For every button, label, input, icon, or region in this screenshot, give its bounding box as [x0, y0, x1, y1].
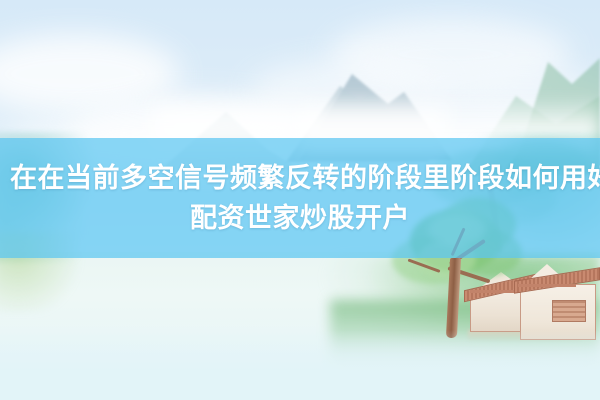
- house-right-roof-edge: [518, 284, 576, 287]
- house-window: [552, 300, 586, 322]
- headline-line-1: 在在当前多空信号频繁反转的阶段里阶段如何用好: [10, 158, 590, 198]
- ground-fade: [0, 330, 600, 400]
- landscape-banner: 在在当前多空信号频繁反转的阶段里阶段如何用好 配资世家炒股开户: [0, 0, 600, 400]
- headline-band: 在在当前多空信号频繁反转的阶段里阶段如何用好 配资世家炒股开户: [0, 138, 600, 258]
- headline-line-2: 配资世家炒股开户: [10, 198, 590, 238]
